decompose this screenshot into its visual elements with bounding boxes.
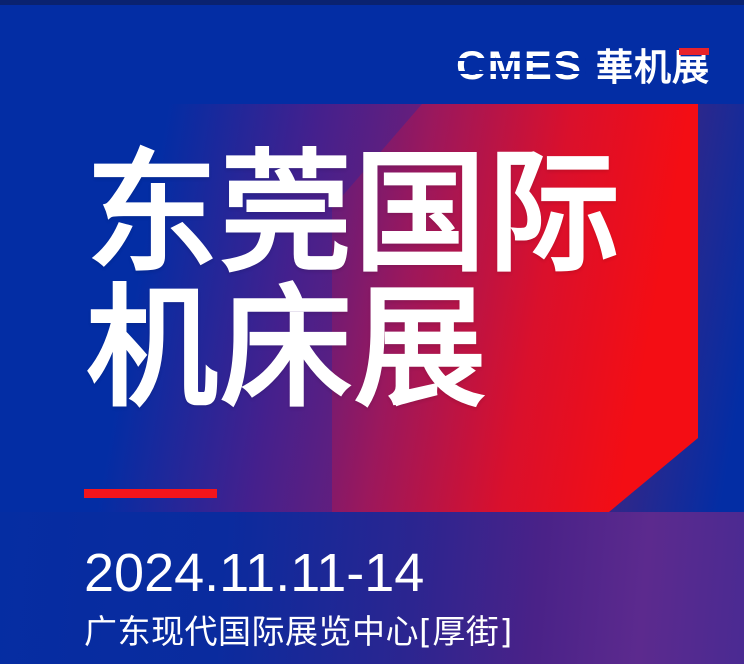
top-edge-band [0, 0, 744, 5]
event-dates: 2024.11.11-14 [84, 546, 424, 600]
logo-wordmark: CMES [457, 46, 583, 86]
poster-canvas: CMES 華机展 东莞国际 机床展 2024.11.11-14 广东现代国际展览… [0, 0, 744, 664]
red-divider-rule [84, 489, 217, 498]
event-venue: 广东现代国际展览中心[厚街] [84, 614, 513, 650]
headline-line-1: 东莞国际 [86, 150, 622, 279]
poster-headline: 东莞国际 机床展 [86, 150, 622, 415]
cmes-logo[interactable]: CMES 華机展 [461, 46, 710, 86]
logo-red-accent-bar-icon [679, 48, 709, 55]
headline-line-2: 机床展 [86, 285, 622, 414]
